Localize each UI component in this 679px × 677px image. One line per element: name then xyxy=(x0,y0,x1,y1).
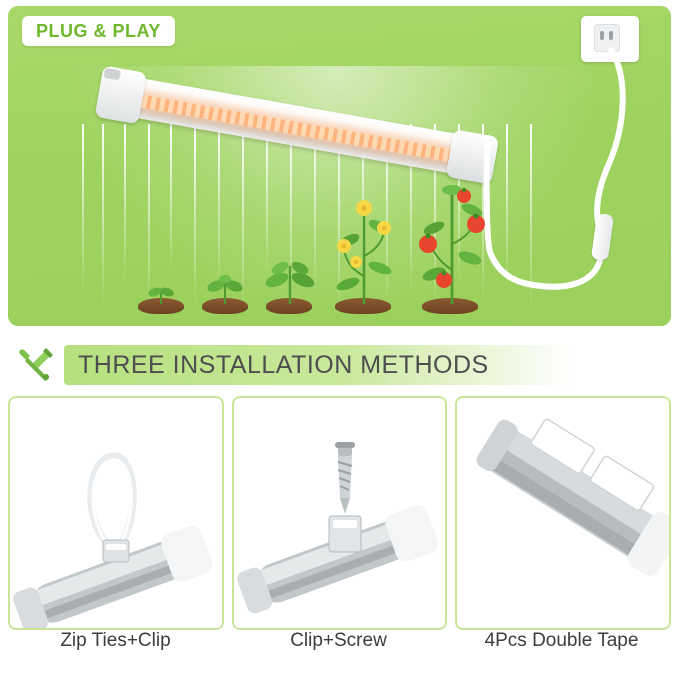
plug-and-play-badge: PLUG & PLAY xyxy=(22,16,175,46)
plug-and-play-label: PLUG & PLAY xyxy=(36,21,161,42)
wrench-screwdriver-icon xyxy=(14,345,58,385)
methods-title: THREE INSTALLATION METHODS xyxy=(78,351,489,380)
method-card-zip-tie xyxy=(8,396,224,630)
growing-plants-icon xyxy=(260,258,320,306)
growing-plants-icon xyxy=(134,284,188,306)
zip-tie-mount-icon xyxy=(10,398,224,628)
caption-double-tape: 4Pcs Double Tape xyxy=(454,630,669,670)
installation-methods-cards xyxy=(8,396,671,626)
method-card-screw xyxy=(232,396,448,630)
growing-plants-icon xyxy=(198,274,252,306)
double-tape-mount-icon xyxy=(457,398,671,628)
method-captions: Zip Ties+Clip Clip+Screw 4Pcs Double Tap… xyxy=(8,630,671,670)
caption-zip-ties-clip: Zip Ties+Clip xyxy=(8,630,223,670)
hero-panel: PLUG & PLAY xyxy=(8,6,671,326)
method-card-double-tape xyxy=(455,396,671,630)
screw-mount-icon xyxy=(234,398,448,628)
flowering-plant-icon xyxy=(326,196,402,306)
tomato-plant-icon xyxy=(410,174,496,306)
product-infographic: PLUG & PLAY THREE INSTALLATION METHODS xyxy=(0,0,679,677)
methods-header: THREE INSTALLATION METHODS xyxy=(8,344,671,386)
methods-title-bar: THREE INSTALLATION METHODS xyxy=(64,345,671,385)
caption-clip-screw: Clip+Screw xyxy=(231,630,446,670)
